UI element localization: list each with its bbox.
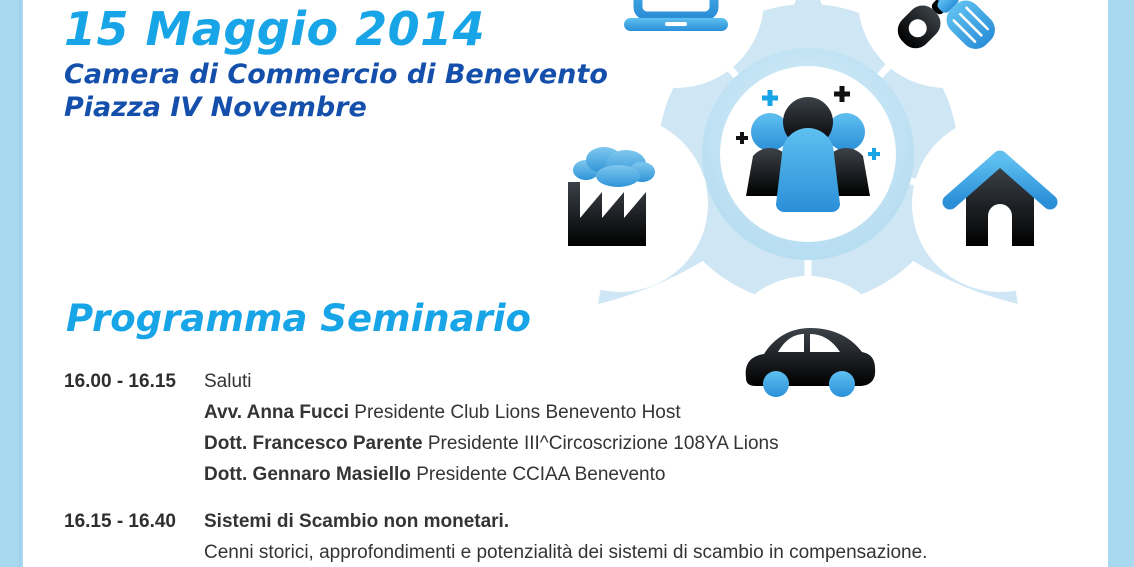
- programme-heading: Programma Seminario: [66, 296, 531, 341]
- slot-line: Saluti: [204, 366, 1074, 397]
- slot-body: Sistemi di Scambio non monetari. Cenni s…: [204, 506, 1074, 567]
- slot-line-rest: Cenni storici, approfondimenti e potenzi…: [204, 542, 927, 563]
- right-edge-bar: [1108, 0, 1134, 567]
- slot-line-lead: Sistemi di Scambio non monetari.: [204, 511, 509, 532]
- venue-line-1: Camera di Commercio di Benevento: [64, 58, 584, 91]
- venue-line-2: Piazza IV Novembre: [64, 91, 584, 124]
- event-date-title: 15 Maggio 2014: [64, 0, 584, 58]
- slot-line: Avv. Anna Fucci Presidente Club Lions Be…: [204, 397, 1074, 428]
- headline-block: 15 Maggio 2014 Camera di Commercio di Be…: [64, 0, 584, 124]
- left-edge-bar-seam: [19, 0, 21, 567]
- schedule-slot: 16.15 - 16.40 Sistemi di Scambio non mon…: [64, 506, 1074, 567]
- slot-line-rest: Presidente Club Lions Benevento Host: [349, 402, 681, 423]
- slot-line: Dott. Gennaro Masiello Presidente CCIAA …: [204, 459, 1074, 490]
- schedule-slot: 16.00 - 16.15 Saluti Avv. Anna Fucci Pre…: [64, 366, 1074, 490]
- programme-schedule: 16.00 - 16.15 Saluti Avv. Anna Fucci Pre…: [64, 366, 1074, 567]
- slot-line: Cenni storici, approfondimenti e potenzi…: [204, 537, 1074, 567]
- slot-line-lead: Dott. Gennaro Masiello: [204, 464, 411, 485]
- poster-canvas: 15 Maggio 2014 Camera di Commercio di Be…: [0, 0, 1134, 567]
- slot-body: Saluti Avv. Anna Fucci Presidente Club L…: [204, 366, 1074, 490]
- node-factory: [532, 116, 708, 292]
- slot-line-rest: Presidente CCIAA Benevento: [411, 464, 666, 485]
- slot-line-lead: Dott. Francesco Parente: [204, 433, 423, 454]
- node-people-center: [702, 48, 914, 260]
- slot-line-lead: Avv. Anna Fucci: [204, 402, 349, 423]
- node-house: [912, 116, 1088, 292]
- slot-time: 16.00 - 16.15: [64, 366, 204, 397]
- slot-line: Sistemi di Scambio non monetari.: [204, 506, 1074, 537]
- slot-line-rest: Saluti: [204, 371, 252, 392]
- slot-line-rest: Presidente III^Circoscrizione 108YA Lion…: [423, 433, 779, 454]
- slot-time: 16.15 - 16.40: [64, 506, 204, 537]
- slot-line: Dott. Francesco Parente Presidente III^C…: [204, 428, 1074, 459]
